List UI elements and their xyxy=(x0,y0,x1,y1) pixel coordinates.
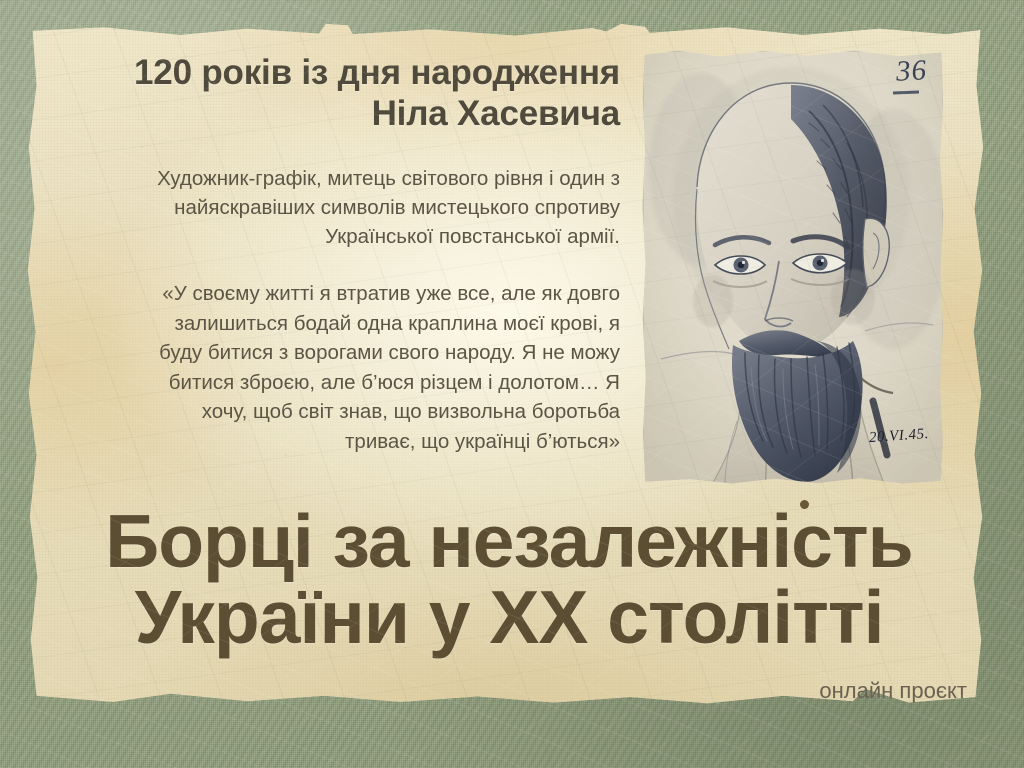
quote-line-3: буду битися з ворогами свого народу. Я н… xyxy=(159,341,620,364)
quote-line-2: залишиться бодай одна краплина моєї кров… xyxy=(174,312,620,335)
quote-line-1: «У своєму житті я втратив уже все, але я… xyxy=(162,282,620,305)
main-title-line-2: України у XX столітті xyxy=(44,579,974,655)
quote-line-5: хочу, щоб світ знав, що визвольна бороть… xyxy=(202,400,620,423)
lede-line-2: найяскравіших символів мистецького спрот… xyxy=(174,196,620,219)
quotation-block: «У своєму житті я втратив уже все, але я… xyxy=(55,279,620,456)
lede-line-3: Української повстанської армії. xyxy=(325,225,620,248)
quote-line-6: триває, що українці б’ються» xyxy=(345,430,620,453)
text-column: 120 років із дня народження Ніла Хасевич… xyxy=(55,52,620,456)
portrait-drawing-icon xyxy=(641,49,945,486)
project-label: онлайн проєкт xyxy=(819,678,967,704)
anniversary-heading: 120 років із дня народження Ніла Хасевич… xyxy=(55,52,620,134)
main-title-line-1: Борці за незалежність xyxy=(44,503,974,579)
lede-paragraph: Художник-графік, митець світового рівня … xyxy=(55,164,620,251)
main-title: Борці за незалежність України у XX столі… xyxy=(44,503,974,655)
portrait-photograph: 36 20.VI.45. xyxy=(641,49,945,486)
anniversary-heading-line-1: 120 років із дня народження xyxy=(134,53,620,92)
poster-canvas: 36 20.VI.45. 120 років із дня народження… xyxy=(0,0,1024,768)
quote-line-4: битися зброєю, але б’юся різцем і долото… xyxy=(169,371,620,394)
lede-line-1: Художник-графік, митець світового рівня … xyxy=(157,167,620,190)
photo-number-annotation: 36 xyxy=(895,54,928,89)
anniversary-heading-line-2: Ніла Хасевича xyxy=(372,94,620,133)
